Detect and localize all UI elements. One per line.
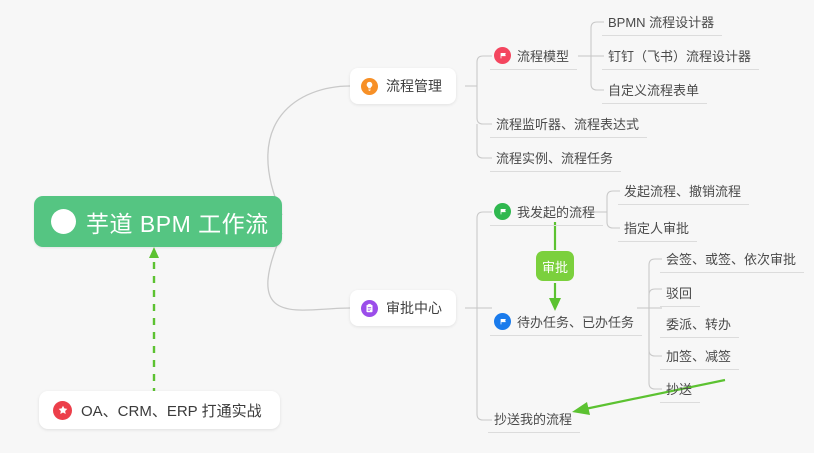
topic-label: 指定人审批 <box>624 218 689 237</box>
lightbulb-icon <box>361 78 378 95</box>
topic-label: 会签、或签、依次审批 <box>666 249 796 268</box>
topic-bpmn-designer[interactable]: BPMN 流程设计器 <box>602 8 722 36</box>
topic-cc-to-me-process[interactable]: 抄送我的流程 <box>488 405 580 433</box>
topic-delegate-transfer[interactable]: 委派、转办 <box>660 310 739 338</box>
root-label: 芋道 BPM 工作流 <box>86 205 269 239</box>
branch-label: 流程管理 <box>386 76 442 96</box>
topic-dingtalk-feishu-designer[interactable]: 钉钉（飞书）流程设计器 <box>602 42 759 70</box>
topic-process-instance-task[interactable]: 流程实例、流程任务 <box>490 144 621 172</box>
topic-custom-process-form[interactable]: 自定义流程表单 <box>602 76 707 104</box>
approval-flow-badge-label: 审批 <box>542 257 568 276</box>
topic-label: 流程实例、流程任务 <box>496 148 613 167</box>
flag-icon-red <box>494 47 511 64</box>
topic-add-remove-sign[interactable]: 加签、减签 <box>660 342 739 370</box>
mindmap-canvas: 芋道 BPM 工作流 流程管理 流程模型 BPMN 流程设计器 钉钉（飞书）流程… <box>0 0 814 453</box>
topic-label: 钉钉（飞书）流程设计器 <box>608 46 751 65</box>
topic-start-cancel-process[interactable]: 发起流程、撤销流程 <box>618 177 749 205</box>
topic-label: 抄送 <box>666 379 692 398</box>
thumbs-up-icon <box>51 209 76 234</box>
topic-process-model[interactable]: 流程模型 <box>490 42 577 70</box>
topic-todo-done-tasks[interactable]: 待办任务、已办任务 <box>490 308 642 336</box>
topic-assignee-approval[interactable]: 指定人审批 <box>618 214 697 242</box>
topic-reject[interactable]: 驳回 <box>660 279 700 307</box>
topic-countersign-orsign-sequential[interactable]: 会签、或签、依次审批 <box>660 245 804 273</box>
topic-my-started-process[interactable]: 我发起的流程 <box>490 198 603 226</box>
topic-cc[interactable]: 抄送 <box>660 375 700 403</box>
branch-label: 审批中心 <box>386 298 442 318</box>
topic-label: 待办任务、已办任务 <box>517 312 634 331</box>
branch-approval-center[interactable]: 审批中心 <box>350 290 456 326</box>
topic-label: 委派、转办 <box>666 314 731 333</box>
star-icon <box>53 401 72 420</box>
branch-process-management[interactable]: 流程管理 <box>350 68 456 104</box>
topic-label: 流程模型 <box>517 46 569 65</box>
topic-label: BPMN 流程设计器 <box>608 12 714 31</box>
footer-card-label: OA、CRM、ERP 打通实战 <box>81 400 262 421</box>
topic-process-listener-expression[interactable]: 流程监听器、流程表达式 <box>490 110 647 138</box>
topic-label: 抄送我的流程 <box>494 409 572 428</box>
topic-label: 加签、减签 <box>666 346 731 365</box>
topic-label: 发起流程、撤销流程 <box>624 181 741 200</box>
topic-label: 自定义流程表单 <box>608 80 699 99</box>
footer-card-oa-crm-erp[interactable]: OA、CRM、ERP 打通实战 <box>39 391 280 429</box>
clipboard-icon <box>361 300 378 317</box>
root-node[interactable]: 芋道 BPM 工作流 <box>34 196 282 247</box>
flag-icon-blue <box>494 313 511 330</box>
topic-label: 驳回 <box>666 283 692 302</box>
topic-label: 流程监听器、流程表达式 <box>496 114 639 133</box>
flag-icon-green <box>494 203 511 220</box>
topic-label: 我发起的流程 <box>517 202 595 221</box>
approval-flow-badge: 审批 <box>536 251 574 281</box>
